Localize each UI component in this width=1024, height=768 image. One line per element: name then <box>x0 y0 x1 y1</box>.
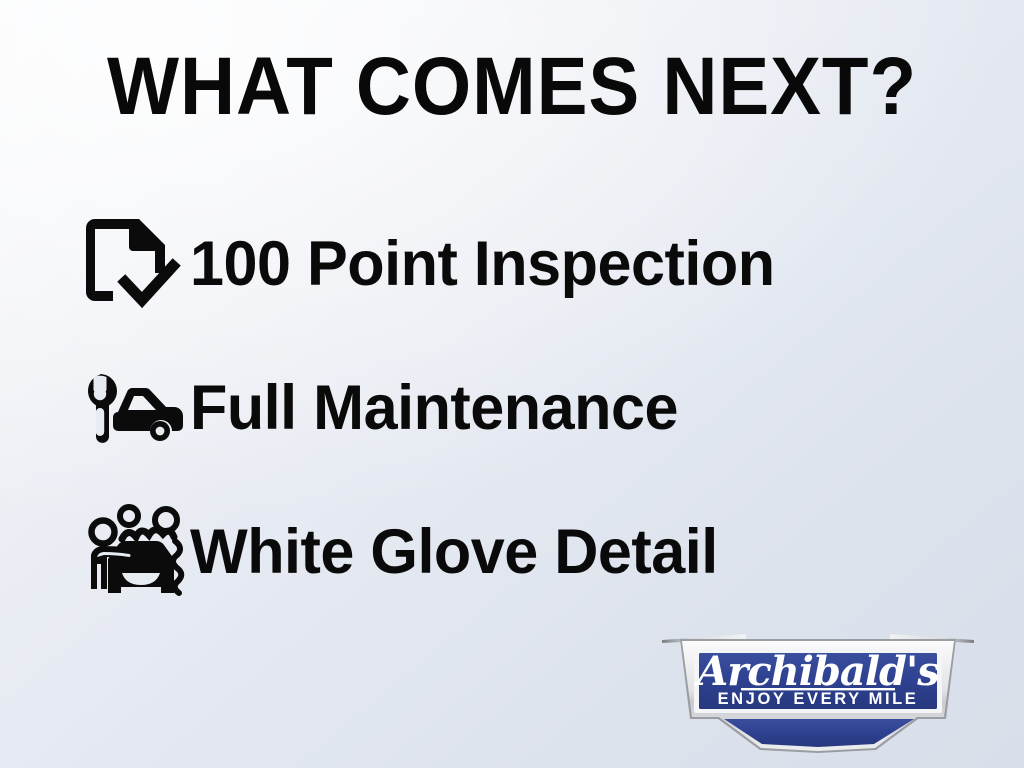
car-wash-icon <box>72 502 190 602</box>
page-title: WHAT COMES NEXT? <box>36 46 988 128</box>
list-item: 100 Point Inspection <box>72 205 992 323</box>
slide-canvas: WHAT COMES NEXT? 100 Point Inspection <box>0 0 1024 768</box>
wrench-car-icon <box>72 358 190 458</box>
list-item-label: 100 Point Inspection <box>190 233 775 296</box>
archibalds-badge-logo: Archibald's ENJOY EVERY MILE <box>628 618 1008 758</box>
document-check-icon <box>72 214 190 314</box>
list-item: White Glove Detail <box>72 493 992 611</box>
list-item-label: White Glove Detail <box>190 521 718 584</box>
logo-tagline-text: ENJOY EVERY MILE <box>718 690 919 708</box>
list-item-label: Full Maintenance <box>190 377 678 440</box>
list-item: Full Maintenance <box>72 349 992 467</box>
feature-list: 100 Point Inspection Full <box>72 205 992 611</box>
logo-brand-text: Archibald's <box>693 648 939 695</box>
